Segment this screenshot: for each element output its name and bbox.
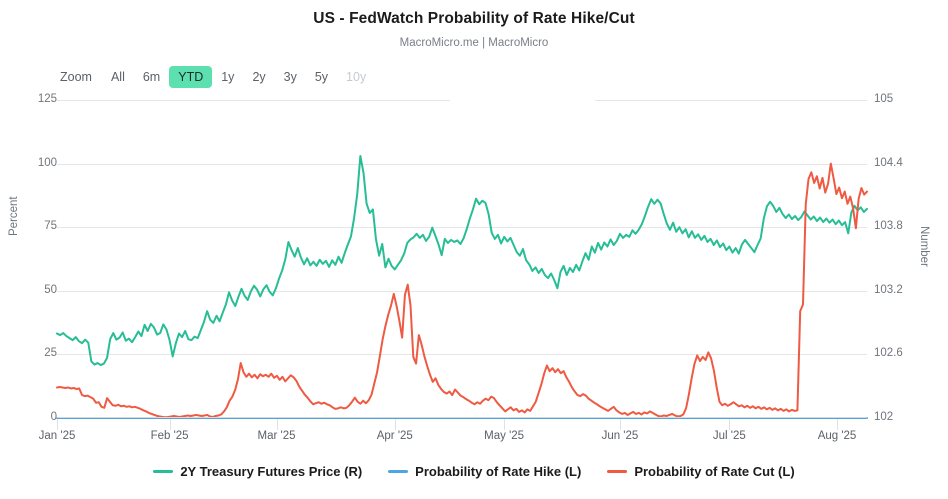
legend-label: 2Y Treasury Futures Price (R)	[180, 464, 362, 479]
x-axis-tick-mark	[729, 419, 730, 430]
x-axis-tick-mark	[170, 419, 171, 430]
series-line	[57, 156, 867, 365]
x-axis-line	[57, 417, 867, 418]
y-axis-right-tick: 103.8	[874, 220, 924, 232]
x-axis-tick-mark	[620, 419, 621, 430]
legend-item[interactable]: Probability of Rate Hike (L)	[388, 464, 581, 479]
zoom-option-all[interactable]: All	[102, 66, 134, 88]
x-axis-tick-label: Mar '25	[258, 430, 296, 442]
legend-label: Probability of Rate Hike (L)	[415, 464, 581, 479]
zoom-range-control: Zoom All 6m YTD 1y 2y 3y 5y 10y	[60, 66, 375, 88]
y-axis-left-tick: 75	[17, 220, 57, 232]
legend-color-swatch	[607, 470, 627, 473]
zoom-option-2y[interactable]: 2y	[243, 66, 274, 88]
zoom-option-6m[interactable]: 6m	[134, 66, 169, 88]
x-axis-tick-mark	[277, 419, 278, 430]
x-axis-tick-label: May '25	[484, 430, 524, 442]
legend-item[interactable]: 2Y Treasury Futures Price (R)	[153, 464, 362, 479]
series-line	[57, 164, 867, 418]
y-axis-left-tick: 25	[17, 347, 57, 359]
zoom-option-ytd[interactable]: YTD	[169, 66, 212, 88]
y-axis-left-tick: 50	[17, 284, 57, 296]
zoom-option-3y[interactable]: 3y	[275, 66, 306, 88]
x-axis-tick-label: Feb '25	[151, 430, 189, 442]
legend-color-swatch	[388, 470, 408, 473]
zoom-option-1y[interactable]: 1y	[212, 66, 243, 88]
x-axis-tick-label: Aug '25	[818, 430, 857, 442]
y-axis-right-tick: 102	[874, 411, 924, 423]
x-axis-tick-label: Jan '25	[39, 430, 76, 442]
y-axis-right-title: Number	[918, 226, 930, 267]
x-axis-tick-label: Jul '25	[713, 430, 746, 442]
y-axis-left-tick: 100	[17, 157, 57, 169]
x-axis-tick-label: Jun '25	[602, 430, 639, 442]
chart-card: US - FedWatch Probability of Rate Hike/C…	[0, 0, 948, 499]
zoom-label: Zoom	[60, 66, 102, 88]
page-title: US - FedWatch Probability of Rate Hike/C…	[0, 10, 948, 28]
zoom-option-5y[interactable]: 5y	[306, 66, 337, 88]
zoom-option-10y[interactable]: 10y	[337, 66, 375, 88]
chart-legend: 2Y Treasury Futures Price (R)Probability…	[0, 464, 948, 479]
y-axis-right-tick: 103.2	[874, 284, 924, 296]
chart-source-subtitle: MacroMicro.me | MacroMicro	[0, 37, 948, 49]
y-axis-left-title: Percent	[8, 196, 20, 236]
x-axis-tick-mark	[57, 419, 58, 430]
x-axis-tick-mark	[837, 419, 838, 430]
y-axis-right-tick: 104.4	[874, 157, 924, 169]
y-axis-left-tick: 125	[17, 93, 57, 105]
y-axis-right-tick: 102.6	[874, 347, 924, 359]
x-axis-tick-mark	[504, 419, 505, 430]
legend-item[interactable]: Probability of Rate Cut (L)	[607, 464, 794, 479]
plot-area	[57, 100, 867, 418]
y-axis-right-tick: 105	[874, 93, 924, 105]
series-lines	[57, 100, 867, 418]
x-axis-tick-label: Apr '25	[377, 430, 413, 442]
legend-label: Probability of Rate Cut (L)	[634, 464, 794, 479]
y-axis-left-tick: 0	[17, 411, 57, 423]
legend-color-swatch	[153, 470, 173, 473]
x-axis-tick-mark	[395, 419, 396, 430]
